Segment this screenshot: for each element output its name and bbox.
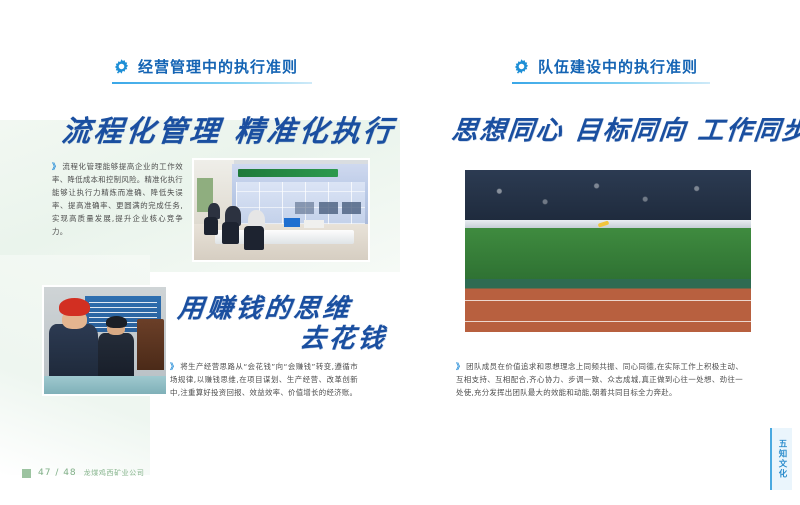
- worker-1-red-helmet: [59, 298, 91, 316]
- right-paragraph: 》团队成员在价值追求和思想理念上同频共振、同心同德,在实际工作上积极主动、互相支…: [456, 360, 743, 399]
- control-room-banner: [238, 169, 339, 177]
- control-room-printer: [304, 220, 325, 228]
- workers-table: [44, 376, 166, 394]
- left-headline: 流程化管理 精准化执行: [60, 108, 398, 150]
- worker-2-body: [98, 333, 135, 381]
- control-room-screen-tile: [319, 202, 338, 214]
- left-paragraph-2: 》将生产经营思路从“会花钱”向“会赚钱”转变,遵循市场规律,以赚钱思维,在项目谋…: [170, 360, 358, 399]
- control-room-monitor: [284, 218, 300, 227]
- footer-square-marker: [22, 469, 31, 478]
- relay-stadium-crowd: [465, 170, 751, 223]
- relay-infield-grass: [465, 228, 751, 278]
- coal-miners-photo: [42, 285, 168, 396]
- control-room-screen-tile: [295, 202, 314, 214]
- control-room-chair: [204, 217, 218, 235]
- gear-icon: [112, 58, 131, 77]
- left-headline-2-line2: 去花钱: [298, 318, 389, 355]
- left-header-underline: [112, 82, 312, 84]
- right-headline: 思想同心 目标同向 工作同步: [450, 110, 800, 147]
- control-room-photo: [192, 158, 370, 262]
- side-tab-label: 五知文化: [776, 439, 788, 479]
- left-header-title: 经营管理中的执行准则: [138, 60, 298, 75]
- relay-lane-line: [465, 300, 751, 301]
- right-header-underline: [512, 82, 710, 84]
- control-room-chair: [244, 226, 263, 250]
- bullet-icon: 》: [170, 362, 177, 371]
- gear-icon: [512, 58, 531, 77]
- left-paragraph-2-text: 将生产经营思路从“会花钱”向“会赚钱”转变,遵循市场规律,以赚钱思维,在项目谋划…: [170, 362, 358, 397]
- left-page-header: 经营管理中的执行准则: [112, 58, 298, 77]
- relay-race-photo: [462, 167, 754, 335]
- control-room-screen-tile: [342, 202, 361, 214]
- page-numbers: 47 / 48: [38, 468, 77, 478]
- right-page-header: 队伍建设中的执行准则: [512, 58, 698, 77]
- bullet-icon: 》: [52, 162, 59, 171]
- right-paragraph-text: 团队成员在价值追求和思想理念上同频共振、同心同德,在实际工作上积极主动、互相支持…: [456, 362, 743, 397]
- right-header-title: 队伍建设中的执行准则: [538, 60, 698, 75]
- left-paragraph-1-text: 流程化管理能够提高企业的工作效率、降低成本和控制风险。精准化执行能够让执行力精炼…: [52, 162, 183, 236]
- company-name: 龙煤鸡西矿业公司: [84, 468, 145, 478]
- control-room-chair: [222, 222, 239, 244]
- footer: 47 / 48 龙煤鸡西矿业公司: [22, 468, 144, 478]
- relay-lane-line: [465, 321, 751, 322]
- worker-1-body: [49, 324, 98, 383]
- side-tab-wuzhi-culture[interactable]: 五知文化: [770, 428, 792, 490]
- left-paragraph-1: 》流程化管理能够提高企业的工作效率、降低成本和控制风险。精准化执行能够让执行力精…: [52, 160, 183, 238]
- bullet-icon: 》: [456, 362, 463, 371]
- workers-door: [137, 319, 164, 370]
- worker-2-helmet: [106, 316, 127, 328]
- relay-track: [465, 279, 751, 332]
- brochure-spread: 经营管理中的执行准则 队伍建设中的执行准则 流程化管理 精准化执行 思想同心 目…: [0, 0, 800, 505]
